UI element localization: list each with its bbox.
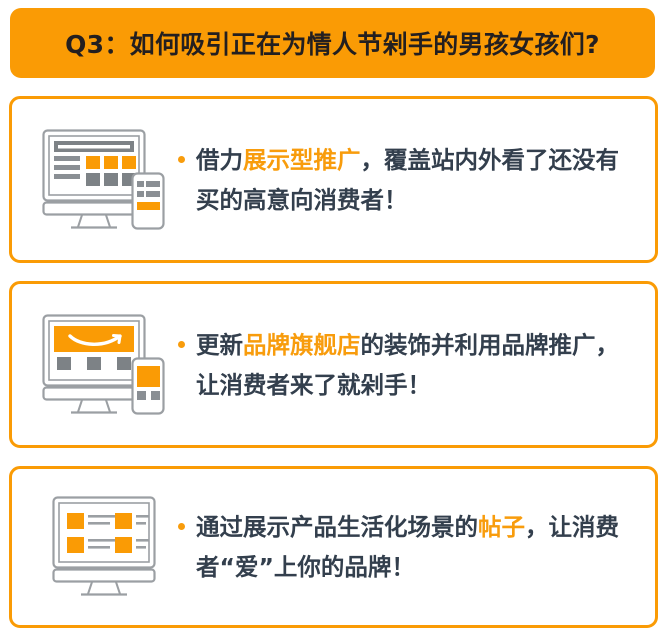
desktop-posts-grid-icon [30, 492, 178, 602]
bullet-point-icon [178, 523, 185, 530]
tip-text-1-part-1-highlight: 展示型推广 [243, 146, 361, 174]
tip-text-wrapper-1: 借力展示型推广，覆盖站内外看了还没有买的高意向消费者！ [178, 140, 655, 220]
bullet-point-icon [178, 156, 185, 163]
tip-text-wrapper-2: 更新品牌旗舰店的装饰并利用品牌推广，让消费者来了就剁手！ [178, 325, 655, 405]
desktop-and-mobile-display-ads-icon [30, 125, 178, 235]
tip-text-3-part-0: 通过展示产品生活化场景的 [196, 513, 478, 541]
question-header-banner: Q3：如何吸引正在为情人节剁手的男孩女孩们? [10, 8, 655, 78]
tip-text-2-part-1-highlight: 品牌旗舰店 [243, 331, 361, 359]
page-title: Q3：如何吸引正在为情人节剁手的男孩女孩们? [65, 25, 600, 61]
tip-text-1: 借力展示型推广，覆盖站内外看了还没有买的高意向消费者！ [196, 140, 633, 220]
desktop-and-mobile-brand-store-icon [30, 310, 178, 420]
tip-text-1-part-0: 借力 [196, 146, 243, 174]
tip-text-2-part-0: 更新 [196, 331, 243, 359]
tip-card-1[interactable]: 借力展示型推广，覆盖站内外看了还没有买的高意向消费者！ [9, 96, 658, 263]
tip-text-3-part-1-highlight: 帖子 [478, 513, 525, 541]
tip-text-wrapper-3: 通过展示产品生活化场景的帖子，让消费者“爱”上你的品牌！ [178, 507, 655, 587]
bullet-point-icon [178, 341, 185, 348]
slide-root: Q3：如何吸引正在为情人节剁手的男孩女孩们? [0, 0, 667, 638]
tip-text-3: 通过展示产品生活化场景的帖子，让消费者“爱”上你的品牌！ [196, 507, 633, 587]
tip-text-2: 更新品牌旗舰店的装饰并利用品牌推广，让消费者来了就剁手！ [196, 325, 633, 405]
tip-card-2[interactable]: 更新品牌旗舰店的装饰并利用品牌推广，让消费者来了就剁手！ [9, 281, 658, 448]
tip-card-3[interactable]: 通过展示产品生活化场景的帖子，让消费者“爱”上你的品牌！ [9, 466, 658, 628]
